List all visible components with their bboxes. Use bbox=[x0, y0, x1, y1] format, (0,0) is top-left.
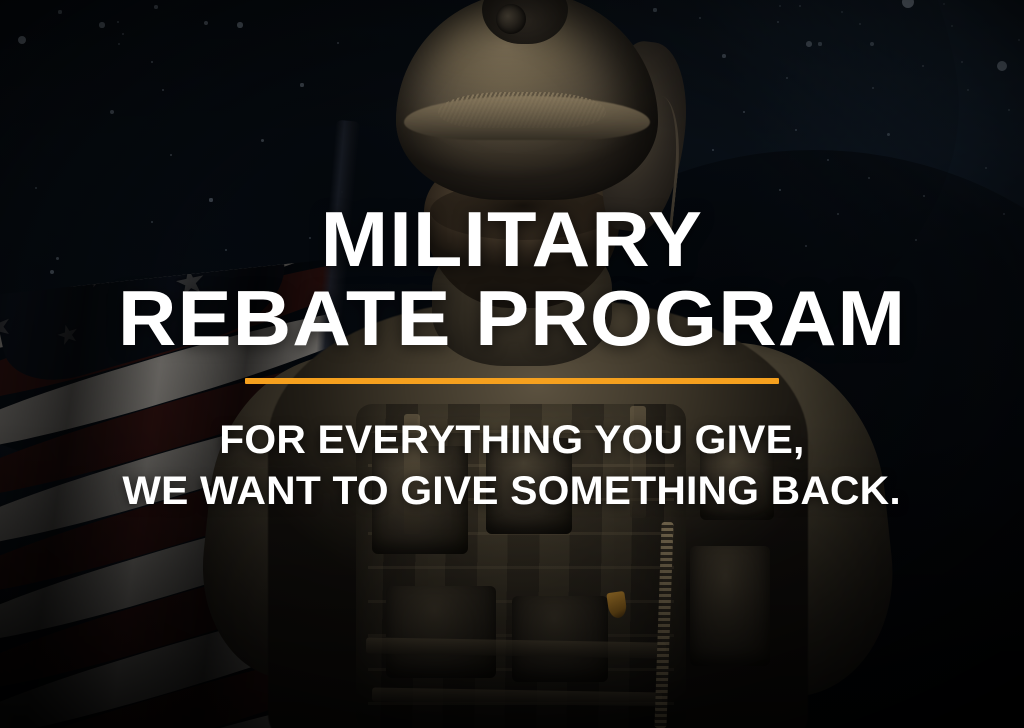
headline-line-2: REBATE PROGRAM bbox=[118, 281, 906, 356]
orange-divider-rule bbox=[245, 378, 779, 384]
headline-line-1: MILITARY bbox=[321, 202, 703, 277]
subheadline-line-2: WE WANT TO GIVE SOMETHING BACK. bbox=[123, 469, 902, 515]
banner-content: MILITARY REBATE PROGRAM FOR EVERYTHING Y… bbox=[0, 0, 1024, 728]
military-rebate-banner: ★★★★★★★ MILITARY REBATE PROGRAM FOR EVER… bbox=[0, 0, 1024, 728]
subheadline-line-1: FOR EVERYTHING YOU GIVE, bbox=[219, 418, 804, 464]
